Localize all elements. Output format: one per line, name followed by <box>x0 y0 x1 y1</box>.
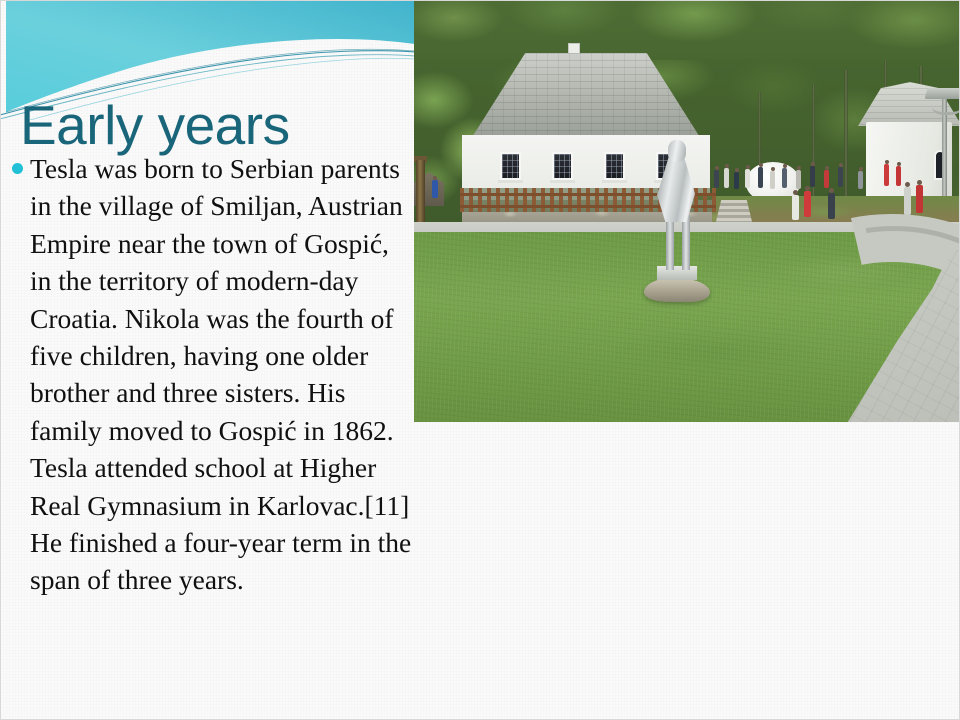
statue-leg <box>682 215 690 270</box>
page-title: Early years <box>20 95 410 155</box>
window-sill <box>498 180 523 183</box>
bullet-text: Tesla was born to Serbian parents in the… <box>30 150 412 599</box>
statue-leg <box>666 215 674 270</box>
visitor <box>792 190 799 220</box>
statue-rock-base <box>644 278 710 302</box>
visitor <box>770 167 775 189</box>
visitor <box>858 167 863 189</box>
list-item: Tesla was born to Serbian parents in the… <box>12 150 412 599</box>
visitor <box>838 163 843 187</box>
visitor <box>714 166 719 188</box>
house-window <box>604 152 625 180</box>
visitor <box>904 182 911 215</box>
visitor <box>884 160 889 186</box>
bullet-dot-icon <box>12 163 23 174</box>
visitor <box>828 188 835 219</box>
window-sill <box>602 180 627 183</box>
visitor <box>796 166 801 189</box>
house-window <box>552 152 573 180</box>
statue-head <box>668 140 686 162</box>
visitor <box>916 180 923 213</box>
slide-photo <box>414 0 960 422</box>
street-lamp-head <box>924 88 960 99</box>
visitor <box>432 176 438 198</box>
visitor <box>734 168 739 189</box>
slide: Early years Tesla was born to Serbian pa… <box>0 0 960 720</box>
visitor <box>745 165 750 188</box>
visitor <box>824 166 829 188</box>
body-content: Tesla was born to Serbian parents in the… <box>12 150 412 599</box>
visitor <box>804 186 811 217</box>
house-window <box>500 152 521 180</box>
visitor <box>810 162 815 187</box>
visitor <box>782 164 787 188</box>
window-sill <box>550 180 575 183</box>
visitor <box>896 162 901 186</box>
tree-trunk <box>844 70 848 210</box>
visitor <box>724 164 729 188</box>
statue-plinth <box>657 266 697 280</box>
visitor <box>758 163 763 188</box>
